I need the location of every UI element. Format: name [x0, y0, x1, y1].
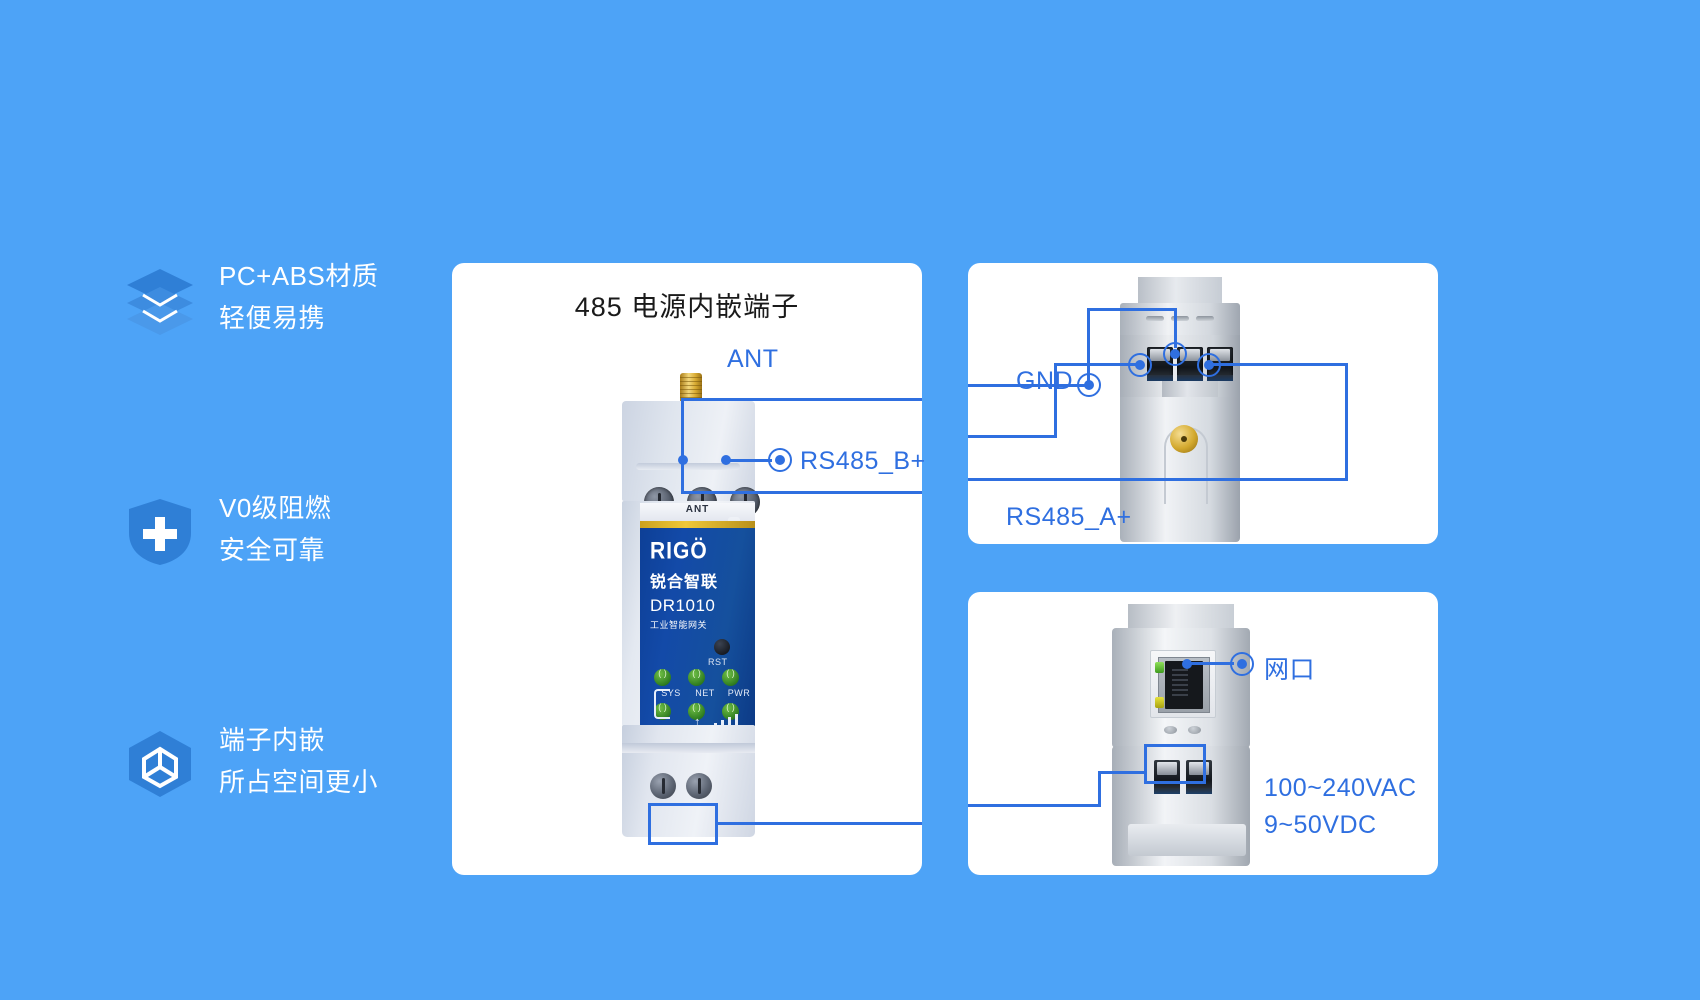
gold-accent-strip — [640, 521, 755, 528]
device-lower-face — [1120, 397, 1240, 542]
wire-h-network — [1187, 662, 1234, 665]
feature-list: PC+ABS材质 轻便易携 V0级阻燃 安全可靠 端子内嵌 所占空间更小 — [125, 255, 455, 951]
feature-item-flameproof: V0级阻燃 安全可靠 — [125, 487, 455, 719]
feature-line-1: PC+ABS材质 — [219, 261, 378, 291]
wire-v-power — [1098, 771, 1101, 807]
sma-connector-top[interactable] — [1170, 425, 1198, 453]
device-front-face: RIGÖ 锐合智联 DR1010 工业智能网关 RST SYS NET PWR — [640, 521, 755, 726]
power-screw-1 — [650, 773, 676, 799]
device-upper-block — [1112, 628, 1250, 748]
main-product-panel: 485 电源内嵌端子 ANT RIGÖ 锐合智联 — [452, 263, 922, 875]
led-net — [688, 669, 705, 686]
feature-line-2: 轻便易携 — [219, 297, 378, 339]
wire-h-rs485b — [724, 459, 772, 462]
wire-v-gnd-terminal — [1174, 308, 1177, 348]
model-block: DR1010 工业智能网关 — [650, 596, 715, 631]
feature-text-terminal: 端子内嵌 所占空间更小 — [219, 719, 378, 803]
led-label-pwr: PWR — [722, 688, 756, 698]
feature-line-2: 安全可靠 — [219, 529, 331, 571]
reset-label: RST — [708, 657, 728, 667]
vent-slot-3 — [1196, 316, 1214, 321]
wire-h-a-right — [1208, 363, 1348, 366]
power-spec-line-2: 9~50VDC — [1264, 811, 1377, 839]
feature-item-terminal: 端子内嵌 所占空间更小 — [125, 719, 455, 951]
device-top-housing — [622, 401, 755, 501]
wire-h-b-left — [968, 435, 1057, 438]
panel-title: 485 电源内嵌端子 — [452, 285, 922, 324]
feature-text-material: PC+ABS材质 轻便易携 — [219, 255, 378, 339]
cube-icon — [125, 729, 195, 799]
callout-label-rs485b: RS485_B+ — [800, 447, 926, 476]
wire-v-gnd-down — [1087, 308, 1090, 386]
power-spec-line-1: 100~240VAC — [1264, 774, 1417, 802]
callout-label-gnd: GND — [1016, 367, 1073, 396]
callout-label-ant: ANT — [727, 345, 779, 374]
wire-h-rs485a — [681, 491, 922, 494]
callout-dot-network — [1230, 652, 1254, 676]
model-number: DR1010 — [650, 596, 715, 615]
model-subtitle: 工业智能网关 — [650, 618, 715, 631]
wire-h-b-term — [1054, 363, 1142, 366]
power-terminal-highlight — [648, 803, 718, 845]
case-screw-2 — [1188, 726, 1201, 734]
rj45-led-green — [1155, 662, 1164, 673]
device-main-housing: ANT RIGÖ 锐合智联 DR1010 工业智能网关 RST — [622, 501, 755, 726]
wire-h-gnd-top — [1087, 308, 1177, 311]
vent-slot-1 — [1146, 316, 1164, 321]
ant-strip-text: ANT — [640, 504, 755, 515]
wire-v-a-down — [1345, 363, 1348, 481]
terminal-top-view-panel: GND RS485_A+ — [968, 263, 1438, 544]
wire-h-a-bottom — [968, 478, 1348, 481]
rj45-led-yellow — [1155, 697, 1164, 708]
shield-plus-icon — [125, 497, 195, 567]
ports-panel: 网口 100~240VAC 9~50VDC — [968, 592, 1438, 875]
brand-block: RIGÖ 锐合智联 — [650, 539, 718, 592]
layers-icon — [125, 265, 195, 335]
led-label-net: NET — [688, 688, 722, 698]
feature-text-flameproof: V0级阻燃 安全可靠 — [219, 487, 331, 571]
case-screw-1 — [1164, 726, 1177, 734]
wire-h-power — [718, 822, 922, 825]
wire-h-power-in — [1098, 771, 1147, 774]
gateway-device-ports-view — [1106, 604, 1256, 876]
feature-line-1: V0级阻燃 — [219, 493, 331, 523]
reset-button[interactable] — [714, 639, 730, 655]
bracket-mark — [654, 689, 670, 719]
callout-label-network: 网口 — [1264, 650, 1315, 686]
gateway-device-front: ANT RIGÖ 锐合智联 DR1010 工业智能网关 RST — [609, 373, 774, 843]
feature-line-1: 端子内嵌 — [219, 725, 325, 755]
housing-lip — [622, 743, 755, 753]
led-sys — [654, 669, 671, 686]
wire-v-ant — [681, 398, 684, 458]
led-pwr — [722, 669, 739, 686]
wire-h-ant — [681, 398, 922, 401]
brand-logo-cn: 锐合智联 — [650, 568, 718, 592]
wire-h-gnd-left — [968, 384, 1090, 387]
feature-item-material: PC+ABS材质 轻便易携 — [125, 255, 455, 487]
power-terminal-screws — [650, 773, 712, 803]
power-screw-2 — [686, 773, 712, 799]
wire-h-power-left — [968, 804, 1101, 807]
din-rail-clip — [1128, 824, 1246, 856]
power-spec-block: 100~240VAC 9~50VDC — [1264, 770, 1417, 844]
power-terminal-highlight-box — [1144, 744, 1206, 784]
feature-line-2: 所占空间更小 — [219, 761, 378, 803]
wire-v-rs485a — [681, 459, 684, 494]
case-screws — [1164, 726, 1204, 738]
callout-label-rs485a: RS485_A+ — [1006, 503, 1132, 532]
wire-v-b-down — [1054, 363, 1057, 437]
brand-logo-en: RIGÖ — [650, 539, 718, 564]
